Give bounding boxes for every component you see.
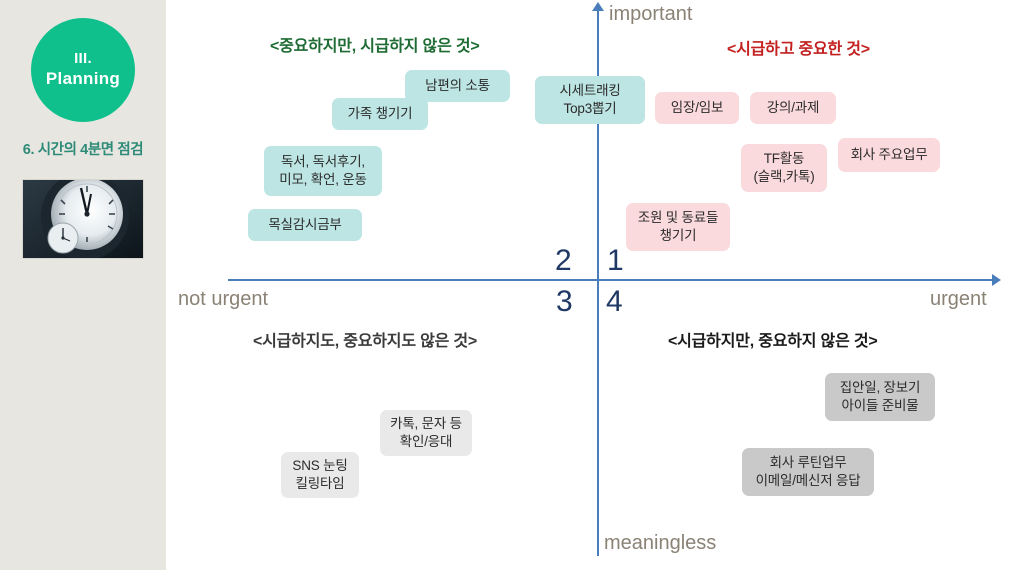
axis-arrow-right-icon bbox=[992, 274, 1001, 286]
box-sns-killing-time-label: SNS 눈팅킬링타임 bbox=[292, 457, 347, 493]
axis-label-important: important bbox=[609, 3, 692, 26]
watch-illustration bbox=[23, 180, 143, 258]
box-husband-communication-label: 남편의 소통 bbox=[425, 77, 490, 95]
section-badge-line2: Planning bbox=[46, 69, 120, 90]
watch-photo bbox=[23, 180, 143, 258]
quadrant-number-4: 4 bbox=[606, 287, 623, 317]
quadrant-header-q3: <시급하지도, 중요하지도 않은 것> bbox=[253, 327, 477, 351]
box-market-tracking[interactable]: 시세트래킹Top3뽑기 bbox=[535, 76, 645, 124]
box-sns-killing-time[interactable]: SNS 눈팅킬링타임 bbox=[281, 452, 359, 498]
section-badge-line1: III. bbox=[74, 50, 92, 68]
box-teammates-care[interactable]: 조원 및 동료들챙기기 bbox=[626, 203, 730, 251]
sidebar: III. Planning 6. 시간의 4분면 점검 bbox=[0, 0, 166, 570]
box-tf-activity[interactable]: TF활동(슬랙,카톡) bbox=[741, 144, 827, 192]
box-housework-shopping-label: 집안일, 장보기아이들 준비물 bbox=[840, 379, 920, 415]
box-moksilgamsigeumbu-label: 목실감시금부 bbox=[268, 216, 341, 234]
quadrant-number-3: 3 bbox=[556, 287, 573, 317]
box-teammates-care-label: 조원 및 동료들챙기기 bbox=[638, 209, 718, 245]
box-tf-activity-label: TF활동(슬랙,카톡) bbox=[753, 150, 814, 186]
quadrant-header-q1: <시급하고 중요한 것> bbox=[727, 35, 870, 59]
box-kakao-reply[interactable]: 카톡, 문자 등확인/응대 bbox=[380, 410, 472, 456]
box-lecture-assignment[interactable]: 강의/과제 bbox=[750, 92, 836, 124]
quadrant-number-2: 2 bbox=[555, 246, 572, 276]
horizontal-axis bbox=[228, 279, 998, 281]
box-lecture-assignment-label: 강의/과제 bbox=[767, 99, 819, 117]
box-company-main-work-label: 회사 주요업무 bbox=[851, 146, 928, 164]
axis-arrow-up-icon bbox=[592, 2, 604, 11]
box-company-main-work[interactable]: 회사 주요업무 bbox=[838, 138, 940, 172]
axis-label-meaningless: meaningless bbox=[604, 532, 716, 555]
box-company-routine-label: 회사 루틴업무이메일/메신저 응답 bbox=[756, 454, 861, 490]
section-badge: III. Planning bbox=[31, 18, 135, 122]
box-site-visit[interactable]: 임장/임보 bbox=[655, 92, 739, 124]
box-reading-routine-label: 독서, 독서후기,미모, 확언, 운동 bbox=[279, 153, 367, 189]
slide-canvas: III. Planning 6. 시간의 4분면 점검 bbox=[0, 0, 1014, 570]
box-housework-shopping[interactable]: 집안일, 장보기아이들 준비물 bbox=[825, 373, 935, 421]
box-kakao-reply-label: 카톡, 문자 등확인/응대 bbox=[390, 415, 462, 451]
box-family-care[interactable]: 가족 챙기기 bbox=[332, 98, 428, 130]
quadrant-number-1: 1 bbox=[607, 246, 624, 276]
box-moksilgamsigeumbu[interactable]: 목실감시금부 bbox=[248, 209, 362, 241]
sidebar-heading: 6. 시간의 4분면 점검 bbox=[0, 138, 166, 159]
box-family-care-label: 가족 챙기기 bbox=[348, 105, 413, 123]
box-market-tracking-label: 시세트래킹Top3뽑기 bbox=[559, 82, 620, 118]
quadrant-header-q2: <중요하지만, 시급하지 않은 것> bbox=[270, 32, 480, 56]
box-reading-routine[interactable]: 독서, 독서후기,미모, 확언, 운동 bbox=[264, 146, 382, 196]
axis-label-not-urgent: not urgent bbox=[178, 288, 268, 311]
axis-label-urgent: urgent bbox=[930, 288, 987, 311]
box-company-routine[interactable]: 회사 루틴업무이메일/메신저 응답 bbox=[742, 448, 874, 496]
quadrant-header-q4: <시급하지만, 중요하지 않은 것> bbox=[668, 327, 878, 351]
box-site-visit-label: 임장/임보 bbox=[671, 99, 723, 117]
